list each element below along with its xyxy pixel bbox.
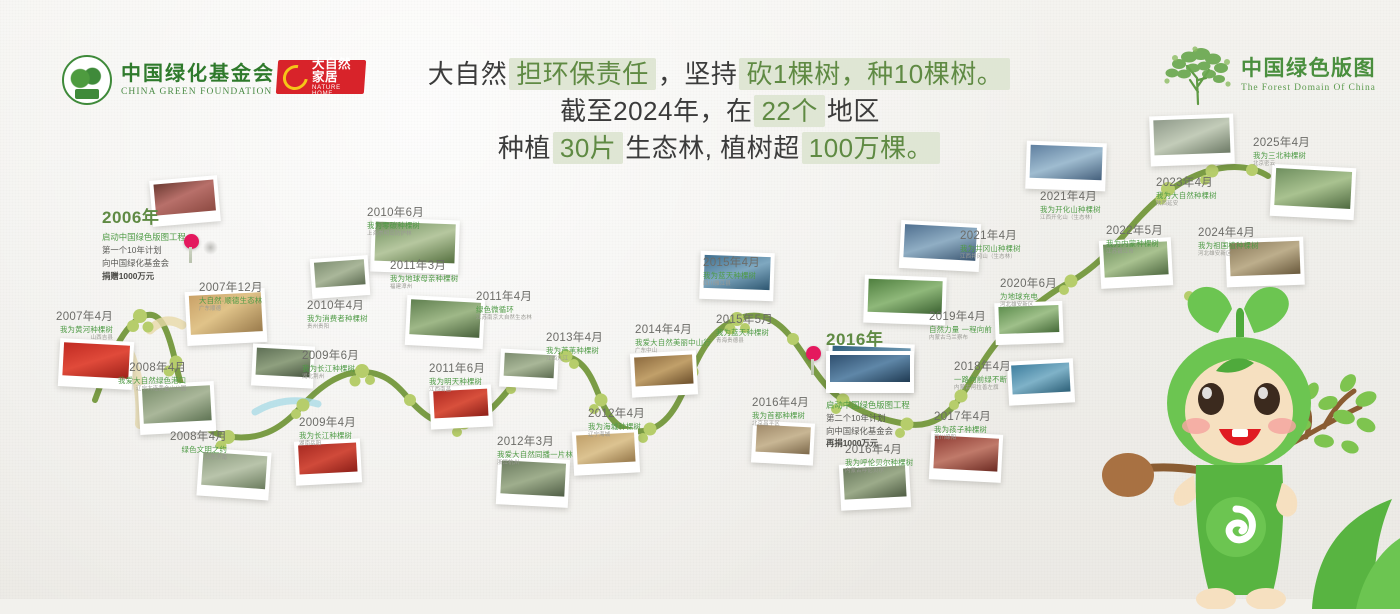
photo [1274,168,1352,209]
nature-home-name-en: NATURE HOME [312,85,359,97]
photo [830,355,910,382]
event-label[interactable]: 2021年4月 我为井冈山种棵树 江西井冈山（生态林） [960,229,1021,261]
milestone-2006-line-4: 捐赠1000万元 [102,271,154,281]
foundation-emblem-icon [62,55,112,105]
event-date: 2010年4月 [307,299,368,313]
forest-domain-name-en: The Forest Domain Of China [1241,83,1376,93]
event-title: 一路向前绿不断 [954,375,1011,385]
event-title: 我为地球母亲种棵树 [390,274,458,284]
headline-line-1: 大自然担环保责任，坚持砍1棵树，种10棵树。 [420,56,1020,93]
event-place: 北京昌平区 [752,421,809,428]
event-date: 2016年4月 [752,396,809,410]
event-place: 青海贵德县 [716,338,773,345]
photo-card[interactable] [630,350,698,397]
event-place: 山西吉县 [56,335,113,342]
event-place: 上海崇明岛防护林 [367,231,424,238]
event-place: 内蒙古呼伦贝尔 [845,468,913,475]
pin-shadow [203,240,218,255]
event-date: 2023年4月 [1156,176,1217,190]
event-label[interactable]: 2011年4月 绿色微循环 江苏南京大自然生态林 [476,290,532,322]
event-place: 河北雄安新区 [1000,302,1057,309]
milestone-2006-line-3: 向中国绿化基金会 [102,257,186,270]
event-place: 江西开化山（生态林） [1040,215,1101,222]
milestone-2016-text: 启动中国绿色版图工程 第二个10年计划 向中国绿化基金会 再捐1000万元 [826,396,910,450]
event-title: 我为祖国植种棵树 [1198,241,1259,251]
event-date: 2022年5月 [1106,224,1163,238]
event-date: 2015年4月 [703,256,760,270]
event-title: 我为消费者种棵树 [307,314,368,324]
event-date: 2012年3月 [497,435,573,449]
event-place: 浙江杭州 [497,460,573,467]
milestone-2016: 2016年 [826,330,883,350]
event-date: 2008年4月 [118,361,186,375]
event-label[interactable]: 2012年3月 我爱大自然同播一片林 浙江杭州 [497,435,573,467]
event-date: 2009年6月 [302,349,359,363]
china-green-foundation-logo: 中国绿化基金会 CHINA GREEN FOUNDATION [62,55,275,105]
event-date: 2013年4月 [546,331,603,345]
event-title: 我为井冈山种棵树 [960,244,1021,254]
event-place: 北京密云 [1253,161,1310,168]
event-title: 我为孩子种棵树 [934,425,991,435]
photo [1153,118,1230,156]
event-date: 2025年4月 [1253,136,1310,150]
nature-home-logo: 大自然家居 NATURE HOME [276,60,366,94]
headline-l1-highlight-1: 担环保责任 [509,58,656,90]
event-label[interactable]: 2011年6月 我为明天种棵树 江西南昌 [429,362,485,394]
event-label[interactable]: 2007年4月 我为黄河种棵树 山西吉县 [56,310,113,342]
headline-l3-highlight-1: 30片 [553,132,623,164]
milestone-2016-photo-card[interactable] [826,351,914,393]
event-label[interactable]: 2022年5月 我为内蒙种棵树 江苏镇江市 [1106,224,1163,256]
event-title: 我为开化山种棵树 [1040,205,1101,215]
event-title: 绿色微循环 [476,305,532,315]
event-label[interactable]: 2014年4月 我爱大自然美丽中山行 广东中山 [635,323,711,355]
event-place: 内蒙古阿拉善左旗 [954,385,1011,392]
event-place: 江苏镇江市 [1106,249,1163,256]
milestone-2016-line-3: 向中国绿化基金会 [826,425,910,438]
forest-domain-logo: 中国绿色版图 The Forest Domain Of China [1157,44,1376,106]
headline: 大自然担环保责任，坚持砍1棵树，种10棵树。 截至2024年，在22个地区 种植… [420,56,1020,167]
photo-card[interactable] [310,255,371,299]
headline-l2-b: 地区 [827,96,880,126]
event-place: 河北雄安新区 [1198,251,1259,258]
event-place: 贵州贵阳 [307,324,368,331]
headline-l3-a: 种植 [498,133,551,163]
event-title: 自然力量 一程向前 [929,325,992,335]
event-place: 广东顺德 [199,306,263,313]
event-label[interactable]: 2016年4月 我为呼伦贝尔种棵树 内蒙古呼伦贝尔 [845,443,913,475]
event-date: 2018年4月 [954,360,1011,374]
photo [409,299,481,338]
headline-l1-b: ，坚持 [658,59,738,89]
event-place: 湖南岳阳 [299,441,356,448]
event-title: 我爱大自然绿色港口 [118,376,186,386]
event-label[interactable]: 2023年4月 我为大自然种棵树 陕西延安 [1156,176,1217,208]
milestone-2006-pin[interactable] [184,234,199,249]
event-place: 广东中山 [635,348,711,355]
event-date: 2007年12月 [199,281,263,295]
milestone-2016-pin[interactable] [806,346,821,361]
event-date: 2014年4月 [635,323,711,337]
photo-card[interactable] [405,295,486,349]
event-place: 江苏南京大自然生态林 [476,315,532,322]
milestone-2006: 2006年 启动中国绿色版图工程 第一个10年计划 向中国绿化基金会 捐赠100… [102,208,186,282]
event-date: 2010年6月 [367,206,424,220]
headline-l2-highlight: 22个 [754,95,824,127]
mascot-body [1167,287,1311,609]
event-place: 辽宁大连黄金山公园 [118,386,186,393]
nature-home-c-icon [278,60,313,95]
event-date: 2007年4月 [56,310,113,324]
event-title: 我为蓝天种棵树 [716,328,773,338]
event-place: 陕西延安 [1156,201,1217,208]
event-label[interactable]: 2015年4月 我为蓝天种棵树 四川雅江县 [703,256,760,288]
event-date: 2015年5月 [716,313,773,327]
headline-l2-a: 截至2024年，在 [560,96,752,126]
event-label[interactable]: 2013年4月 我为芦苇种棵树 江西九江 [546,331,603,363]
headline-l1-a: 大自然 [428,59,508,89]
event-label[interactable]: 2007年12月 大自然·顺德生态林 广东顺德 [199,281,263,313]
event-date: 2020年6月 [1000,277,1057,291]
event-title: 我为芦苇种棵树 [546,346,603,356]
headline-l3-highlight-2: 100万棵。 [802,132,940,164]
event-label[interactable]: 2021年4月 我为开化山种棵树 江西开化山（生态林） [1040,190,1101,222]
photo-card[interactable] [1007,358,1075,405]
event-place: 西川绵阳 [934,435,991,442]
event-label[interactable]: 2016年4月 我为首都种棵树 北京昌平区 [752,396,809,428]
event-place: 湖北荆州 [302,374,359,381]
photo [1011,363,1070,395]
event-label[interactable]: 2020年6月 为地球充电 河北雄安新区 [1000,277,1057,309]
event-date: 2024年4月 [1198,226,1259,240]
event-title: 我为首都种棵树 [752,411,809,421]
event-date: 2008年4月 [170,430,227,444]
event-title: 我为呼伦贝尔种棵树 [845,458,913,468]
milestone-2016-year: 2016年 [826,330,883,350]
event-place: 内蒙古乌兰察布 [929,335,992,342]
event-title: 我为三北种棵树 [1253,151,1310,161]
event-title: 我为长江种棵树 [302,364,359,374]
mascot-grass [1312,499,1400,609]
event-label[interactable]: 2010年4月 我为消费者种棵树 贵州贵阳 [307,299,368,331]
event-date: 2017年4月 [934,410,991,424]
event-title: 我为零碳种棵树 [367,221,424,231]
event-title: 我为明天种棵树 [429,377,485,387]
headline-l1-highlight-2: 砍1棵树，种10棵树。 [739,58,1010,90]
photo-card[interactable] [1270,164,1357,220]
event-title: 我为长江种棵树 [299,431,356,441]
event-title: 我为海城种棵树 [588,422,645,432]
event-date: 2012年4月 [588,407,645,421]
event-label[interactable]: 2018年4月 一路向前绿不断 内蒙古阿拉善左旗 [954,360,1011,392]
event-label[interactable]: 2008年4月 绿色文明之约 山东济南 [170,430,227,462]
event-label[interactable]: 2011年3月 我为地球母亲种棵树 福建漳州 [390,259,458,291]
headline-l3-b: 生态林, 植树超 [625,133,799,163]
photo [634,355,693,387]
event-label[interactable]: 2009年4月 我为长江种棵树 湖南岳阳 [299,416,356,448]
event-label[interactable]: 2012年4月 我为海城种棵树 辽宁海城 [588,407,645,439]
event-date: 2019年4月 [929,310,992,324]
event-date: 2011年3月 [390,259,458,273]
photo [314,259,366,287]
event-title: 我爱大自然美丽中山行 [635,338,711,348]
foundation-name-cn: 中国绿化基金会 [121,63,275,85]
event-title: 绿色文明之约 [170,445,227,455]
milestone-2006-year: 2006年 [102,208,186,228]
event-place: 山东济南 [170,455,227,462]
event-title: 大自然·顺德生态林 [199,296,263,306]
milestone-2016-line-2: 第二个10年计划 [826,412,910,425]
foundation-name-en: CHINA GREEN FOUNDATION [121,87,275,97]
photo [998,305,1059,334]
event-label[interactable]: 2019年4月 自然力量 一程向前 内蒙古乌兰察布 [929,310,992,342]
photo [868,279,943,315]
event-date: 2009年4月 [299,416,356,430]
event-date: 2016年4月 [845,443,913,457]
event-label[interactable]: 2010年6月 我为零碳种棵树 上海崇明岛防护林 [367,206,424,238]
event-date: 2011年6月 [429,362,485,376]
event-label[interactable]: 2008年4月 我爱大自然绿色港口 辽宁大连黄金山公园 [118,361,186,393]
tree-icon [1157,44,1239,106]
event-label[interactable]: 2024年4月 我为祖国植种棵树 河北雄安新区 [1198,226,1259,258]
event-date: 2021年4月 [960,229,1021,243]
event-title: 我为黄河种棵树 [56,325,113,335]
event-title: 为地球充电 [1000,292,1057,302]
milestone-2016-line-1: 启动中国绿色版图工程 [826,399,910,412]
event-label[interactable]: 2017年4月 我为孩子种棵树 西川绵阳 [934,410,991,442]
photo-card[interactable] [1149,114,1235,167]
event-place: 四川雅江县 [703,281,760,288]
event-title: 我为大自然种棵树 [1156,191,1217,201]
nature-home-name-cn: 大自然家居 [312,58,359,83]
event-place: 辽宁海城 [588,432,645,439]
photo [1030,145,1103,180]
forest-domain-name-cn: 中国绿色版图 [1241,57,1376,80]
event-label[interactable]: 2009年6月 我为长江种棵树 湖北荆州 [302,349,359,381]
event-place: 江西井冈山（生态林） [960,254,1021,261]
green-sprout-mascot [1076,279,1400,609]
event-label[interactable]: 2025年4月 我为三北种棵树 北京密云 [1253,136,1310,168]
event-title: 我为蓝天种棵树 [703,271,760,281]
milestone-2006-line-1: 启动中国绿色版图工程 [102,231,186,244]
event-date: 2021年4月 [1040,190,1101,204]
event-date: 2011年4月 [476,290,532,304]
headline-line-3: 种植30片生态林, 植树超100万棵。 [420,130,1020,167]
photo [756,425,811,455]
event-place: 江西九江 [546,356,603,363]
headline-line-2: 截至2024年，在22个地区 [420,93,1020,130]
event-place: 江西南昌 [429,387,485,394]
event-label[interactable]: 2015年5月 我为蓝天种棵树 青海贵德县 [716,313,773,345]
event-title: 我为内蒙种棵树 [1106,239,1163,249]
photo-card[interactable] [1025,141,1107,192]
event-title: 我爱大自然同播一片林 [497,450,573,460]
event-place: 福建漳州 [390,284,458,291]
infographic-canvas: 中国绿化基金会 CHINA GREEN FOUNDATION 大自然家居 NAT… [0,0,1400,599]
milestone-2006-line-2: 第一个10年计划 [102,244,186,257]
